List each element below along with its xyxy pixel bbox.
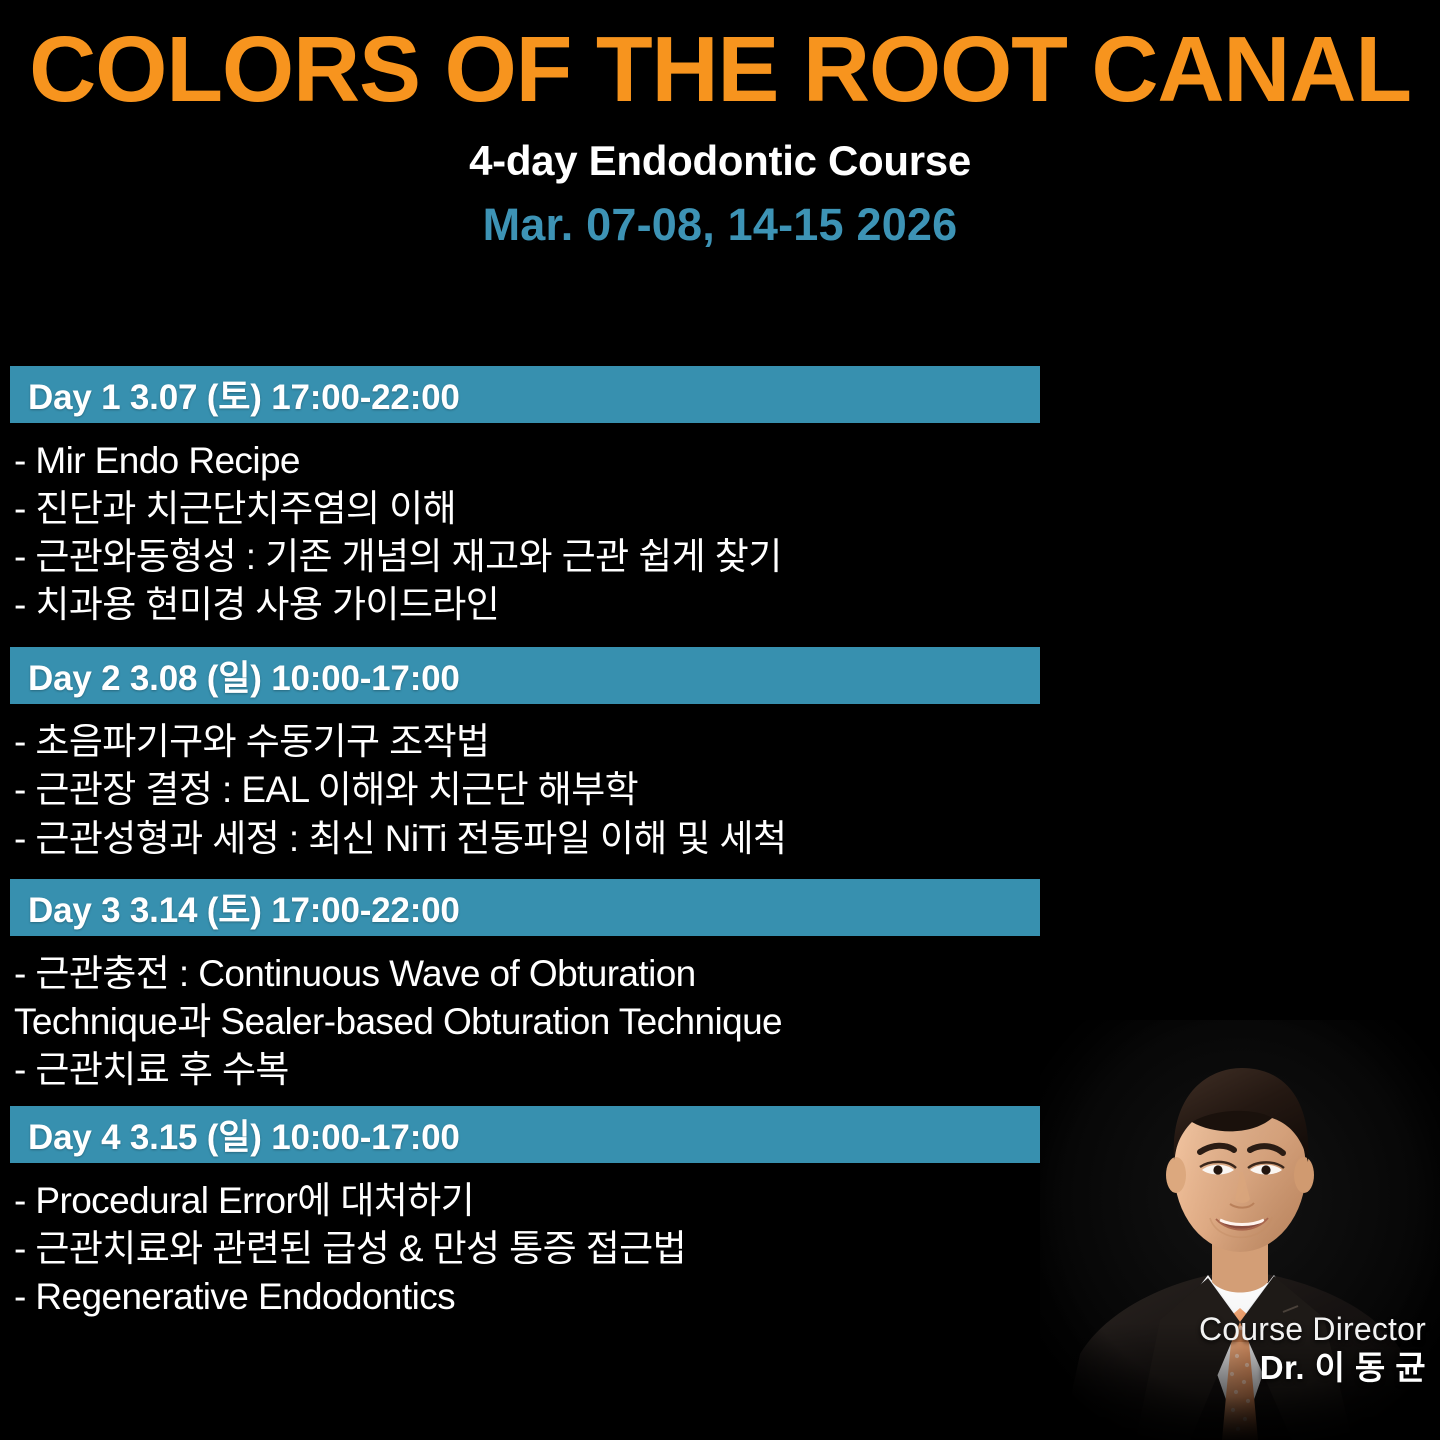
day-header-bar-3: Day 3 3.14 (토) 17:00-22:00 bbox=[10, 879, 1040, 936]
day-header-bar-2: Day 2 3.08 (일) 10:00-17:00 bbox=[10, 647, 1040, 704]
list-item: - 초음파기구와 수동기구 조작법 bbox=[14, 718, 1040, 766]
poster-subtitle: 4-day Endodontic Course bbox=[0, 117, 1440, 183]
day-header-bar-4: Day 4 3.15 (일) 10:00-17:00 bbox=[10, 1106, 1040, 1163]
list-item: - 근관장 결정 : EAL 이해와 치근단 해부학 bbox=[14, 766, 1040, 814]
poster-header: COLORS OF THE ROOT CANAL 4-day Endodonti… bbox=[0, 0, 1440, 248]
list-item: - 진단과 치근단치주염의 이해 bbox=[14, 485, 1040, 533]
day-header-label-4: Day 4 3.15 (일) 10:00-17:00 bbox=[28, 1109, 460, 1160]
list-item: - 근관충전 : Continuous Wave of Obturation T… bbox=[14, 950, 1040, 1046]
day-topics-4: - Procedural Error에 대처하기 - 근관치료와 관련된 급성 … bbox=[0, 1163, 1040, 1321]
course-director-credit: Course Director Dr. 이 동 균 bbox=[1199, 1313, 1426, 1388]
spacer bbox=[0, 629, 1440, 647]
list-item: - 치과용 현미경 사용 가이드라인 bbox=[14, 581, 1040, 629]
list-item: - 근관와동형성 : 기존 개념의 재고와 근관 쉽게 찾기 bbox=[14, 533, 1040, 581]
spacer bbox=[0, 863, 1440, 879]
list-item: - Mir Endo Recipe bbox=[14, 437, 1040, 485]
course-director-name: Dr. 이 동 균 bbox=[1199, 1347, 1426, 1388]
course-dates: Mar. 07-08, 14-15 2026 bbox=[0, 183, 1440, 248]
day-block-1: Day 1 3.07 (토) 17:00-22:00 - Mir Endo Re… bbox=[0, 366, 1440, 629]
day-header-bar-1: Day 1 3.07 (토) 17:00-22:00 bbox=[10, 366, 1040, 423]
day-block-2: Day 2 3.08 (일) 10:00-17:00 - 초음파기구와 수동기구… bbox=[0, 647, 1440, 862]
day-header-label-2: Day 2 3.08 (일) 10:00-17:00 bbox=[28, 650, 460, 701]
course-director-role: Course Director bbox=[1199, 1313, 1426, 1347]
day-topics-2: - 초음파기구와 수동기구 조작법 - 근관장 결정 : EAL 이해와 치근단… bbox=[0, 704, 1040, 862]
list-item: - 근관성형과 세정 : 최신 NiTi 전동파일 이해 및 세척 bbox=[14, 815, 1040, 863]
list-item: - Procedural Error에 대처하기 bbox=[14, 1177, 1040, 1225]
list-item: - 근관치료 후 수복 bbox=[14, 1046, 1040, 1094]
list-item: - Regenerative Endodontics bbox=[14, 1273, 1040, 1321]
list-item: - 근관치료와 관련된 급성 & 만성 통증 접근법 bbox=[14, 1225, 1040, 1273]
day-topics-1: - Mir Endo Recipe - 진단과 치근단치주염의 이해 - 근관와… bbox=[0, 423, 1040, 629]
course-poster: COLORS OF THE ROOT CANAL 4-day Endodonti… bbox=[0, 0, 1440, 1440]
day-header-label-1: Day 1 3.07 (토) 17:00-22:00 bbox=[28, 369, 460, 420]
day-topics-3: - 근관충전 : Continuous Wave of Obturation T… bbox=[0, 936, 1040, 1094]
course-director-photo: Course Director Dr. 이 동 균 bbox=[1040, 1020, 1440, 1440]
day-header-label-3: Day 3 3.14 (토) 17:00-22:00 bbox=[28, 882, 460, 933]
page-title: COLORS OF THE ROOT CANAL bbox=[0, 0, 1440, 117]
